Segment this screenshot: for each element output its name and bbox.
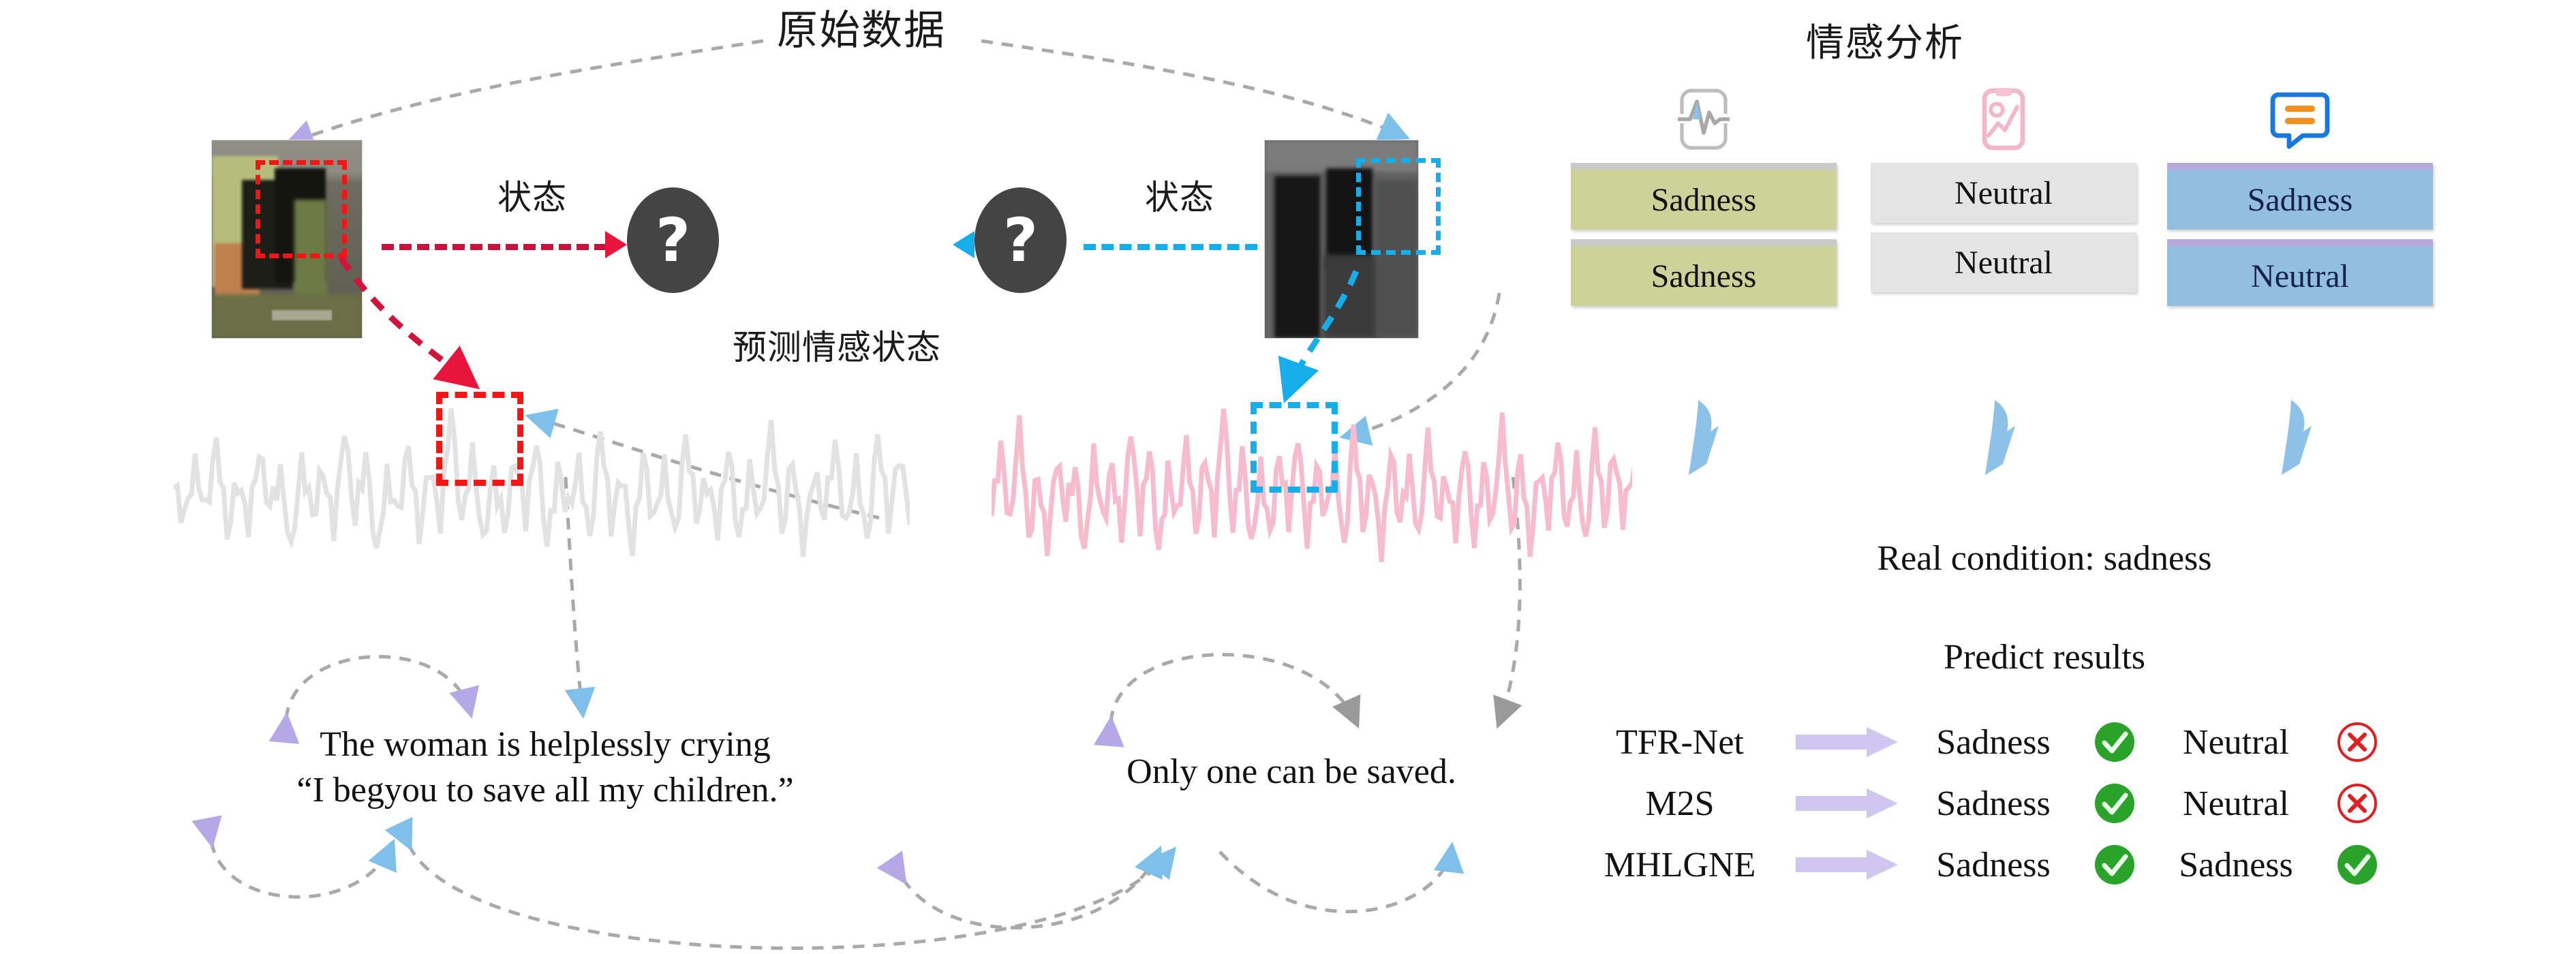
highlight-box-right-waveform: [1251, 402, 1338, 493]
state-arrowhead-left-icon: [605, 231, 627, 258]
result-mark-b: [2328, 844, 2387, 886]
waveform-left: [174, 395, 910, 600]
real-condition-text: Real condition: sadness: [1567, 538, 2521, 579]
transcript-right-line1: Only one can be saved.: [1060, 750, 1523, 795]
result-prediction-a: Sadness: [1901, 784, 2085, 824]
result-mark-a: [2085, 844, 2144, 886]
result-arrow-icon: [1792, 787, 1901, 820]
highlight-box-left-waveform: [436, 392, 523, 486]
result-mark-a: [2085, 782, 2144, 825]
result-prediction-b: Neutral: [2144, 722, 2328, 763]
transcript-left: The woman is helplessly crying “I begyou…: [194, 722, 896, 813]
result-mark-b: [2328, 782, 2387, 825]
chip-text-row2: Neutral: [2167, 239, 2433, 306]
result-prediction-a: Sadness: [1901, 845, 2085, 885]
transcript-left-line1: The woman is helplessly crying: [194, 722, 896, 768]
image-photo-icon: [1871, 85, 2136, 153]
chip-text-row1: Sadness: [2167, 163, 2433, 230]
result-model-name: MHLGNE: [1567, 845, 1792, 885]
result-arrow-icon: [1792, 726, 1901, 758]
modality-column-vision: Neutral Neutral: [1871, 85, 2136, 292]
question-circle-right: ?: [975, 187, 1067, 293]
chip-vision-row1: Neutral: [1871, 163, 2136, 223]
audio-waveform-icon: [1571, 85, 1837, 153]
transcript-right: Only one can be saved.: [1060, 750, 1523, 795]
result-mark-a: [2085, 721, 2144, 763]
predict-results-heading: Predict results: [1567, 637, 2521, 677]
result-model-name: TFR-Net: [1567, 722, 1792, 763]
label-state-left: 状态: [497, 170, 567, 219]
flow-arrow-vision-icon: [1980, 399, 2034, 480]
modality-column-audio: Sadness Sadness: [1571, 85, 1837, 306]
table-row: MHLGNE Sadness Sadness: [1567, 838, 2535, 891]
label-state-right: 状态: [1145, 170, 1214, 219]
highlight-box-right-image: [1356, 158, 1441, 255]
result-model-name: M2S: [1567, 784, 1792, 824]
modality-column-text: Sadness Neutral: [2167, 85, 2433, 306]
result-mark-b: [2328, 721, 2387, 763]
state-arrow-right: [1084, 244, 1257, 250]
label-predict-emotion-state: 预测情感状态: [733, 320, 941, 369]
flow-arrow-text-icon: [2276, 399, 2331, 480]
result-prediction-b: Sadness: [2144, 845, 2328, 885]
chip-vision-row2: Neutral: [1871, 232, 2136, 292]
result-prediction-b: Neutral: [2144, 784, 2328, 824]
chip-audio-row2: Sadness: [1571, 239, 1837, 306]
table-row: M2S Sadness Neutral: [1567, 777, 2535, 830]
state-arrowhead-right-icon: [953, 231, 975, 258]
result-prediction-a: Sadness: [1901, 722, 2085, 763]
result-arrow-icon: [1792, 848, 1901, 881]
transcript-left-line2: “I begyou to save all my children.”: [194, 768, 896, 814]
page-title-sentiment-analysis: 情感分析: [1806, 12, 1964, 67]
page-title-raw-data: 原始数据: [777, 0, 946, 57]
highlight-box-left-image: [256, 160, 347, 258]
state-arrow-left: [382, 244, 607, 250]
table-row: TFR-Net Sadness Neutral: [1567, 715, 2535, 769]
text-document-icon: [2167, 85, 2433, 153]
flow-arrow-audio-icon: [1683, 399, 1738, 480]
question-circle-left: ?: [627, 187, 719, 293]
chip-audio-row1: Sadness: [1571, 163, 1837, 230]
